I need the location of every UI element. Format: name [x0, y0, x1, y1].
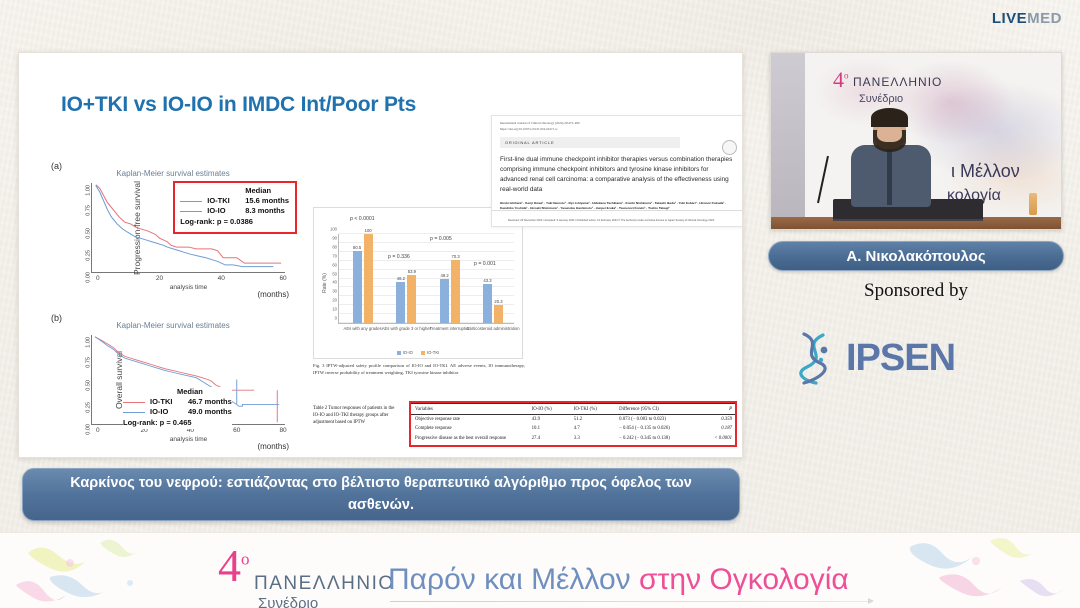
footer-title-blue: Παρόν και Μέλλον: [388, 563, 639, 596]
table-2-highlight-box: Variables IO-IO (%) IO-TKI (%) Differenc…: [409, 401, 737, 447]
table-cell-variable-1: Complete response: [411, 424, 528, 433]
session-title-banner: Καρκίνος του νεφρού: εστιάζοντας στο βέλ…: [22, 468, 740, 521]
table-col-io-io: IO-IO (%): [528, 404, 570, 415]
bar-ytick-1: 10: [332, 307, 337, 312]
km-a-legend-swatch-io-tki: [180, 201, 202, 202]
speaker-name: Α. Νικολακόπουλος: [846, 248, 985, 265]
table-cell-p-2: < 0.0001: [699, 434, 735, 445]
article-received-line: Received: 29 November 2023 / Accepted: 9…: [508, 219, 729, 223]
livemed-logo-med: MED: [1027, 10, 1062, 27]
speaker-torso: [851, 145, 931, 207]
table-col-p: P: [699, 404, 735, 415]
km-a-legend-name-io-io: IO-IO: [207, 206, 245, 216]
table-cell-variable-2: Progressive disease as the best overall …: [411, 434, 528, 445]
bar-value-io-tki-2: 70.3: [452, 254, 460, 259]
km-a-xlabel: analysis time: [92, 284, 285, 291]
bar-ytick-8: 80: [332, 244, 337, 249]
ipsen-wordmark: IPSEN: [846, 337, 955, 380]
bar-value-io-io-3: 43.3: [483, 278, 491, 283]
session-title: Καρκίνος του νεφρού: εστιάζοντας στο βέλ…: [23, 473, 739, 515]
km-b-logrank: Log-rank: p = 0.465: [123, 418, 232, 428]
table-cell-io-io-2: 27.4: [528, 434, 570, 445]
open-access-check-icon: [722, 140, 737, 155]
paper-divider: [492, 210, 743, 211]
table-cell-p-1: 0.187: [699, 424, 735, 433]
footer-rule: [390, 601, 870, 602]
livemed-logo-live: LIVE: [992, 10, 1027, 27]
bar-value-io-tki-0: 100: [365, 228, 372, 233]
table-cell-io-tki-2: 3.3: [570, 434, 615, 445]
bar-group-0: 80.5 100 AEs with any grades: [343, 234, 383, 323]
km-b-ytick-0: 0.00: [86, 424, 92, 435]
journal-citation-line-2: https://doi.org/10.1007/s10147-024-02471…: [500, 127, 743, 132]
bar-ytick-6: 60: [332, 262, 337, 267]
table-row: Objective response rate 43.9 51.2 0.073 …: [411, 414, 735, 424]
bar-io-tki-1: 53.9: [407, 275, 416, 323]
bar-ytick-4: 40: [332, 280, 337, 285]
table-cell-io-tki-0: 51.2: [570, 414, 615, 424]
km-a-legend-row-0: IO-TKI 15.6 months: [180, 196, 289, 206]
table-cell-io-io-0: 43.9: [528, 414, 570, 424]
bar-value-io-io-1: 46.2: [397, 276, 405, 281]
journal-citation-line-1: International Journal of Clinical Oncolo…: [500, 121, 743, 126]
table-cell-io-io-1: 10.1: [528, 424, 570, 433]
km-b-legend: Median IO-TKI 46.7 months IO-IO 49.0 mon…: [123, 387, 232, 429]
speaker-name-bar: Α. Νικολακόπουλος: [768, 241, 1064, 271]
ipsen-helix-icon: [790, 330, 840, 386]
article-type-badge: ORIGINAL ARTICLE: [500, 137, 680, 148]
km-a-legend-header: Median: [245, 186, 289, 196]
table-cell-diff-0: 0.073 (− 0.083 to 0.023): [615, 414, 699, 424]
bar-io-tki-2: 70.3: [451, 260, 460, 323]
bar-legend-label-io-tki: IO-TKI: [427, 350, 439, 355]
bar-ytick-3: 30: [332, 289, 337, 294]
figure-3-caption: Fig. 3 IPTW-adjusted safety profile comp…: [313, 363, 525, 376]
speaker-hair: [871, 108, 908, 127]
bar-chart-legend: IO-IO IO-TKI: [314, 350, 522, 355]
km-b-legend-swatch-io-io: [123, 412, 145, 413]
bar-group-2: 49.2 70.3 Treatment interruption: [430, 234, 470, 323]
bar-pvalue-0: p < 0.0001: [350, 216, 375, 222]
km-a-ytick-0: 0.00: [86, 272, 92, 283]
sponsored-by-label: Sponsored by: [768, 280, 1064, 302]
km-b-legend-header: Median: [177, 387, 232, 397]
km-a-xtick-3: 60: [279, 275, 286, 282]
table-cell-diff-1: − 0.054 (− 0.135 to 0.026): [615, 424, 699, 433]
bar-ytick-9: 90: [332, 235, 337, 240]
km-b-legend-swatch-io-tki: [123, 402, 145, 403]
table-cell-variable-0: Objective response rate: [411, 414, 528, 424]
kaplan-meier-figure-b: (b) Kaplan-Meier survival estimates Over…: [47, 311, 299, 458]
km-a-logrank: Log-rank: p = 0.0386: [180, 217, 289, 227]
bar-chart-ylabel: Rate (%): [322, 273, 328, 293]
table-col-io-tki: IO-TKI (%): [570, 404, 615, 415]
table-col-difference: Difference (95% CI): [615, 404, 699, 415]
km-a-xtick-1: 20: [156, 275, 163, 282]
km-b-legend-name-io-tki: IO-TKI: [150, 397, 188, 407]
km-b-xlabel: analysis time: [92, 436, 285, 443]
kaplan-meier-figure-a: (a) Kaplan-Meier survival estimates Prog…: [47, 159, 299, 309]
km-a-legend-median-io-io: 8.3 months: [245, 206, 285, 216]
backdrop-synedrio: Συνέδριο: [859, 93, 903, 105]
bar-group-1: 46.2 53.9 AEs with grade 3 or higher: [386, 234, 426, 323]
backdrop-panellinio: ΠΑΝΕΛΛΗΝΙΟ: [853, 75, 942, 89]
bar-value-io-tki-1: 53.9: [408, 269, 416, 274]
km-b-legend-median-io-io: 49.0 months: [188, 407, 232, 417]
bar-io-io-3: 43.3: [483, 284, 492, 323]
livemed-logo: LIVEMED: [992, 10, 1062, 27]
km-a-legend-name-io-tki: IO-TKI: [207, 196, 245, 206]
km-b-xtick-0: 0: [96, 427, 100, 434]
km-a-legend-swatch-io-io: [180, 211, 202, 212]
table-row: Complete response 10.1 4.7 − 0.054 (− 0.…: [411, 424, 735, 433]
km-a-xtick-2: 40: [218, 275, 225, 282]
bar-ytick-7: 70: [332, 253, 337, 258]
km-b-title: Kaplan-Meier survival estimates: [47, 321, 299, 330]
speaker-video-feed[interactable]: 4ο ΠΑΝΕΛΛΗΝΙΟ Συνέδριο ι Μέλλον κολογία: [770, 52, 1062, 230]
bar-value-io-io-2: 49.2: [441, 273, 449, 278]
table-cell-diff-2: − 0.242 (− 0.345 to 0.138): [615, 434, 699, 445]
bar-io-io-1: 46.2: [396, 282, 405, 323]
bar-legend-label-io-io: IO-IO: [403, 350, 413, 355]
km-b-legend-median-io-tki: 46.7 months: [188, 397, 232, 407]
table-2-caption: Table 2 Tumor responses of patients in t…: [313, 405, 401, 427]
bar-value-io-tki-3: 20.3: [494, 299, 502, 304]
km-a-xtick-0: 0: [96, 275, 100, 282]
km-a-title: Kaplan-Meier survival estimates: [47, 169, 299, 178]
speaker-face: [877, 125, 902, 142]
footer-synedrio: Συνέδριο: [258, 595, 318, 608]
bar-ytick-10: 100: [330, 227, 337, 232]
bar-legend-io-tki: IO-TKI: [421, 350, 439, 355]
bar-io-io-2: 49.2: [440, 279, 449, 323]
bar-ytick-0: 0: [335, 316, 337, 321]
km-b-xtick-4: 80: [279, 427, 286, 434]
ipsen-logo: IPSEN: [790, 330, 1040, 386]
footer-splatter-left: [10, 533, 210, 608]
km-b-legend-name-io-io: IO-IO: [150, 407, 188, 417]
km-b-legend-row-1: IO-IO 49.0 months: [123, 407, 232, 417]
bar-ytick-2: 20: [332, 298, 337, 303]
table-cell-io-tki-1: 4.7: [570, 424, 615, 433]
article-title: First-line dual immune checkpoint inhibi…: [500, 155, 735, 195]
slide-title: IO+TKI vs IO-IO in IMDC Int/Poor Pts: [61, 93, 416, 117]
bar-value-io-io-0: 80.5: [353, 245, 361, 250]
table-row: Progressive disease as the best overall …: [411, 434, 735, 445]
slide-content: IO+TKI vs IO-IO in IMDC Int/Poor Pts (a)…: [25, 59, 736, 451]
km-a-legend-row-1: IO-IO 8.3 months: [180, 206, 289, 216]
water-bottle: [1029, 193, 1037, 215]
bar-ytick-5: 50: [332, 271, 337, 276]
footer-ordinal: 4ο: [218, 539, 250, 592]
table-cell-p-0: 0.359: [699, 414, 735, 424]
bar-legend-io-io: IO-IO: [397, 350, 413, 355]
table-header-row: Variables IO-IO (%) IO-TKI (%) Differenc…: [411, 404, 735, 415]
km-b-legend-row-0: IO-TKI 46.7 months: [123, 397, 232, 407]
footer-title-pink: στην Ογκολογία: [639, 563, 849, 596]
footer-splatter-right: [880, 533, 1080, 608]
table-col-variables: Variables: [411, 404, 528, 415]
bar-io-tki-0: 100: [364, 234, 373, 323]
safety-bar-chart: Rate (%) p < 0.0001 p = 0.336 p = 0.005 …: [313, 207, 523, 359]
backdrop-ordinal: 4ο: [833, 67, 849, 93]
journal-article-thumbnail: International Journal of Clinical Oncolo…: [491, 115, 743, 227]
bar-group-3: 43.3 20.3 Corticosteroid administration: [474, 234, 513, 323]
km-a-legend: Median IO-TKI 15.6 months IO-IO 8.3 mont…: [173, 181, 297, 234]
footer-panellinio: ΠΑΝΕΛΛΗΝΙΟ: [254, 573, 395, 595]
bar-io-tki-3: 20.3: [494, 305, 503, 323]
speaker-person: [849, 111, 933, 207]
slide-panel[interactable]: IO+TKI vs IO-IO in IMDC Int/Poor Pts (a)…: [18, 52, 743, 458]
bar-io-io-0: 80.5: [353, 251, 362, 323]
bar-category-3: Corticosteroid administration: [466, 326, 520, 331]
video-left-wall: [771, 53, 805, 229]
congress-footer: 4ο ΠΑΝΕΛΛΗΝΙΟ Συνέδριο Παρόν και Μέλλον …: [0, 532, 1080, 608]
backdrop-mellon: ι Μέλλον: [951, 161, 1020, 182]
km-b-xunit: (months): [257, 442, 289, 451]
km-b-xtick-3: 60: [233, 427, 240, 434]
footer-main-title: Παρόν και Μέλλον στην Ογκολογία: [388, 563, 849, 597]
table-2: Variables IO-IO (%) IO-TKI (%) Differenc…: [411, 403, 735, 445]
bar-chart-plot: 0 10 20 30 40 50 60 70 80 90 100 80.5 10…: [338, 234, 514, 324]
km-a-legend-median-io-tki: 15.6 months: [245, 196, 289, 206]
km-a-xunit: (months): [257, 290, 289, 299]
